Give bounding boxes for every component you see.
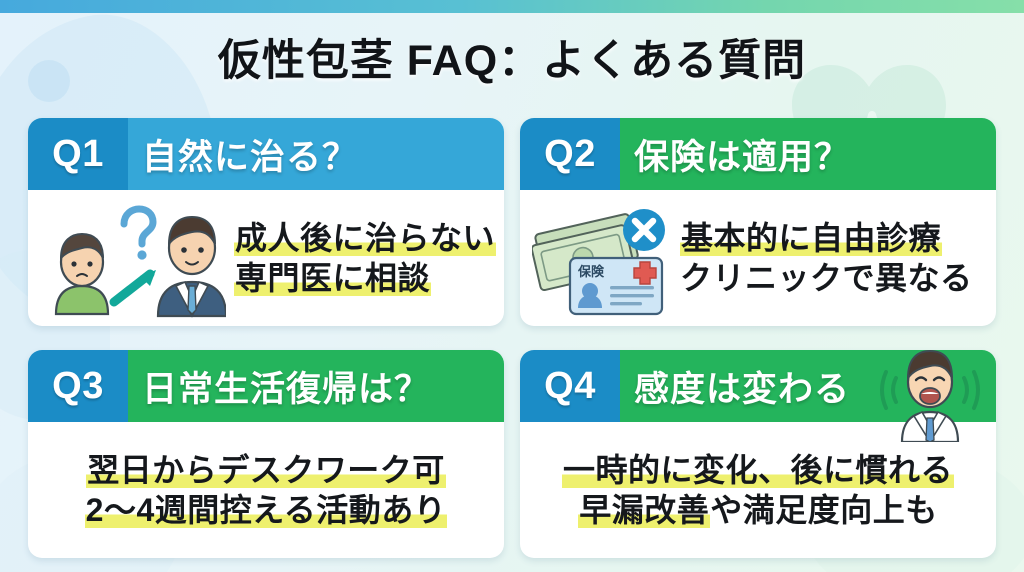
answers-q1: 成人後に治らない 専門医に相談 bbox=[234, 219, 496, 298]
answers-q4: 一時的に変化、後に慣れる 早漏改善や満足度向上も bbox=[562, 451, 954, 530]
answers-q2: 基本的に自由診療 クリニックで異なる bbox=[680, 219, 973, 298]
card-body-q4: 一時的に変化、後に慣れる 早漏改善や満足度向上も bbox=[520, 422, 996, 558]
answers-q3: 翌日からデスクワーク可 2〜4週間控える活動あり bbox=[85, 451, 448, 530]
faq-card-grid: Q1 自然に治る？ bbox=[28, 118, 996, 558]
answer-line-q1-1: 成人後に治らない bbox=[234, 219, 496, 257]
faq-card-q1[interactable]: Q1 自然に治る？ bbox=[28, 118, 504, 326]
question-title-q1: 自然に治る？ bbox=[128, 118, 504, 190]
faq-card-q4[interactable]: Q4 感度は変わる 一時的に変化、後に慣れる bbox=[520, 350, 996, 558]
answer-line-q2-1: 基本的に自由診療 bbox=[680, 219, 973, 257]
faq-poster: 仮性包茎 FAQ：よくある質問 Q1 自然に治る？ bbox=[0, 0, 1024, 572]
card-body-q3: 翌日からデスクワーク可 2〜4週間控える活動あり bbox=[28, 422, 504, 558]
answer-line-q3-2: 2〜4週間控える活動あり bbox=[85, 491, 448, 529]
question-badge-q4: Q4 bbox=[520, 350, 620, 422]
answer-line-q1-2: 専門医に相談 bbox=[234, 259, 496, 297]
card-header-q2: Q2 保険は適用？ bbox=[520, 118, 996, 190]
page-title: 仮性包茎 FAQ：よくある質問 bbox=[0, 26, 1024, 88]
smiling-man-vibration-icon bbox=[870, 350, 990, 442]
question-badge-q2: Q2 bbox=[520, 118, 620, 190]
top-gradient-bar bbox=[0, 0, 1024, 13]
boy-to-adult-man-icon bbox=[40, 196, 226, 320]
question-badge-q3: Q3 bbox=[28, 350, 128, 422]
card-header-q1: Q1 自然に治る？ bbox=[28, 118, 504, 190]
svg-text:保険: 保険 bbox=[577, 264, 605, 279]
answer-line-q4-1: 一時的に変化、後に慣れる bbox=[562, 451, 954, 489]
answer-line-q3-1: 翌日からデスクワーク可 bbox=[86, 451, 446, 489]
answer-line-q2-2: クリニックで異なる bbox=[680, 259, 973, 297]
faq-card-q3[interactable]: Q3 日常生活復帰は？ 翌日からデスクワーク可 2〜4週間控える活動あり bbox=[28, 350, 504, 558]
insurance-money-x-icon: 保険 bbox=[532, 200, 672, 316]
answer-line-q4-2: 早漏改善や満足度向上も bbox=[578, 491, 938, 529]
question-title-q3: 日常生活復帰は？ bbox=[128, 350, 504, 422]
card-header-q3: Q3 日常生活復帰は？ bbox=[28, 350, 504, 422]
question-title-q2: 保険は適用？ bbox=[620, 118, 996, 190]
faq-card-q2[interactable]: Q2 保険は適用？ 保険 bbox=[520, 118, 996, 326]
question-badge-q1: Q1 bbox=[28, 118, 128, 190]
card-body-q2: 保険 基本的に自由診療 クリニックで異なる bbox=[520, 190, 996, 326]
card-body-q1: 成人後に治らない 専門医に相談 bbox=[28, 190, 504, 326]
